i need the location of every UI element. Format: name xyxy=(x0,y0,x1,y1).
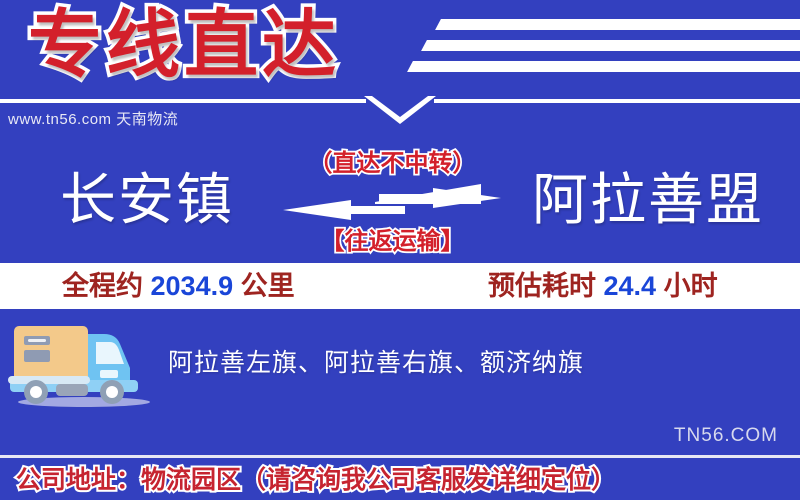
logistics-banner: 专线直达 www.tn56.com 天南物流 长安镇 （直达不中转） 【往返运输… xyxy=(0,0,800,500)
distance-value: 2034.9 xyxy=(151,271,234,301)
divider-rule-right xyxy=(434,99,800,103)
chevron-down-icon xyxy=(364,96,436,124)
duration-info: 预估耗时 24.4 小时 xyxy=(488,267,718,305)
route-row: 长安镇 （直达不中转） 【往返运输】 阿拉善盟 xyxy=(0,150,800,260)
destination-city: 阿拉善盟 xyxy=(532,164,764,236)
speed-stripe-icon xyxy=(407,61,800,72)
route-middle: （直达不中转） 【往返运输】 xyxy=(285,150,500,260)
coverage-city-list: 阿拉善左旗、阿拉善右旗、额济纳旗 xyxy=(168,345,584,381)
speed-stripe-icon xyxy=(421,40,800,51)
divider-rule-left xyxy=(0,99,366,103)
footer-bar: 公司地址：物流园区（请咨询我公司客服发详细定位） xyxy=(0,455,800,500)
distance-info: 全程约 2034.9 公里 xyxy=(62,267,295,305)
duration-label: 预估耗时 xyxy=(488,271,596,301)
site-url: www.tn56.com 天南物流 xyxy=(8,108,178,129)
duration-unit: 小时 xyxy=(664,271,718,301)
page-title: 专线直达 xyxy=(28,2,340,88)
round-trip-tag: 【往返运输】 xyxy=(285,228,500,256)
bidirectional-arrow-icon xyxy=(283,182,501,226)
distance-label: 全程约 xyxy=(62,271,143,301)
duration-value: 24.4 xyxy=(604,271,657,301)
delivery-truck-icon xyxy=(8,322,160,408)
origin-city: 长安镇 xyxy=(60,164,234,236)
info-band: 全程约 2034.9 公里 预估耗时 24.4 小时 xyxy=(0,263,800,309)
speed-stripe-icon xyxy=(435,19,800,30)
distance-unit: 公里 xyxy=(241,271,295,301)
direct-shipping-tag: （直达不中转） xyxy=(285,150,500,178)
watermark: TN56.COM xyxy=(674,425,778,447)
company-address: 公司地址：物流园区（请咨询我公司客服发详细定位） xyxy=(16,463,616,497)
